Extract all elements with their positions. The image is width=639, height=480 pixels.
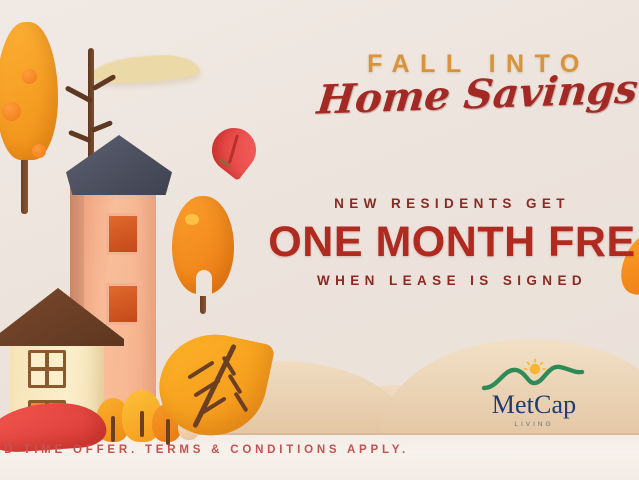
sun-icon: [525, 360, 546, 375]
house-window: [28, 350, 66, 388]
tree-fruit: [2, 102, 21, 121]
offer-eyebrow: NEW RESIDENTS GET: [265, 196, 639, 211]
disclaimer-text: TED TIME OFFER. TERMS & CONDITIONS APPLY…: [0, 444, 462, 456]
tree-crown: [0, 22, 58, 160]
promo-banner: FALL INTO Home Savings! NEW RESIDENTS GE…: [0, 0, 639, 480]
tree-fruit: [32, 144, 46, 158]
headline-block: FALL INTO Home Savings!: [318, 50, 639, 118]
offer-block: NEW RESIDENTS GET ONE MONTH FRE WHEN LEA…: [265, 196, 639, 288]
tree-notch: [196, 270, 212, 296]
headline-line-2: Home Savings!: [315, 65, 639, 123]
house-roof: [0, 288, 124, 346]
logo-wordmark: MetCap: [478, 392, 590, 418]
tall-orange-tree: [0, 22, 58, 172]
metcap-logo[interactable]: MetCap LIVING: [478, 358, 590, 428]
offer-headline: ONE MONTH FRE: [265, 220, 639, 266]
large-autumn-leaf: [160, 334, 266, 436]
house-window: [106, 213, 140, 255]
offer-condition: WHEN LEASE IS SIGNED: [265, 273, 639, 288]
logo-tagline: LIVING: [478, 421, 590, 428]
tree-fruit: [22, 69, 37, 84]
mountain-sun-icon: [478, 358, 590, 392]
red-heart-leaf: [212, 128, 256, 172]
round-orange-tree: [172, 196, 234, 314]
twig-branch: [91, 74, 116, 91]
tree-highlight: [185, 214, 199, 225]
house-roof: [66, 135, 172, 195]
twig-branch: [91, 120, 113, 133]
logo-mark: [478, 358, 590, 392]
